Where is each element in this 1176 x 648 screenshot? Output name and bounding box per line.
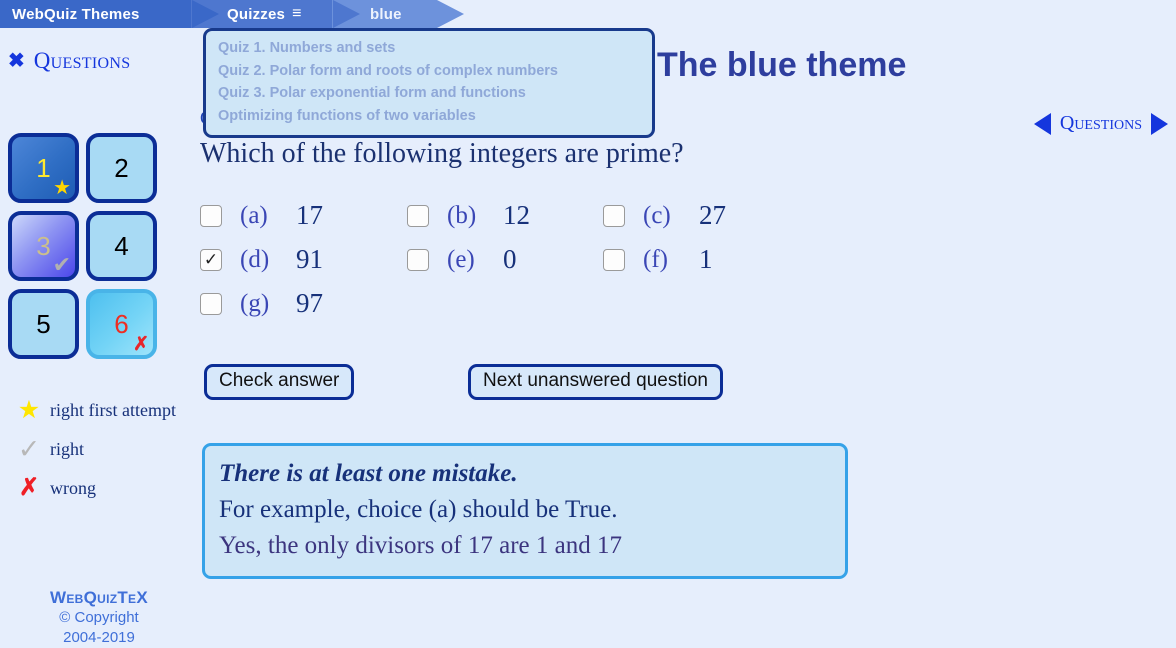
legend-item-right: ✓ right	[8, 436, 193, 463]
feedback-line-1: There is at least one mistake.	[219, 456, 831, 492]
footer-years: 2004-2019	[0, 628, 198, 648]
question-button-5[interactable]: 5	[8, 289, 79, 359]
check-icon: ✓	[8, 436, 50, 463]
choice-b[interactable]: (b) 12	[407, 200, 603, 231]
next-unanswered-question-button[interactable]: Next unanswered question	[468, 364, 723, 400]
choice-f[interactable]: (f) 1	[603, 244, 1160, 275]
question-button-1[interactable]: 1 ★	[8, 133, 79, 203]
footer-brand: WebQuizTeX	[0, 588, 198, 608]
choice-a-letter: (a)	[240, 202, 290, 230]
action-button-row: Check answer Next unanswered question	[200, 364, 1160, 398]
answer-choices: (a) 17 (b) 12 (c) 27 ✓ (d) 91 (e) 0 (f) …	[200, 200, 1160, 319]
choice-e-letter: (e)	[447, 246, 497, 274]
legend-label-right-first-attempt: right first attempt	[50, 400, 176, 421]
choice-e-value: 0	[503, 244, 517, 275]
quizzes-dropdown-menu[interactable]: Quiz 1. Numbers and sets Quiz 2. Polar f…	[203, 28, 655, 138]
star-icon: ★	[8, 398, 50, 423]
feedback-line-2: For example, choice (a) should be True.	[219, 492, 831, 528]
choice-g-checkbox[interactable]	[200, 293, 222, 315]
breadcrumb-label-themes: WebQuiz Themes	[12, 6, 140, 23]
right-triangle-icon[interactable]	[1151, 113, 1168, 135]
breadcrumb-item-themes[interactable]: WebQuiz Themes	[0, 0, 192, 28]
breadcrumb: WebQuiz Themes Quizzes ≡ blue	[0, 0, 1176, 28]
choice-g-letter: (g)	[240, 290, 290, 318]
left-triangle-icon[interactable]	[1034, 113, 1051, 135]
legend-label-right: right	[50, 439, 84, 460]
choice-g-value: 97	[296, 288, 323, 319]
choice-c-letter: (c)	[643, 202, 693, 230]
question-button-6[interactable]: 6 ✗	[86, 289, 157, 359]
status-legend: ★ right first attempt ✓ right ✗ wrong	[8, 398, 193, 513]
choice-d-checkbox[interactable]: ✓	[200, 249, 222, 271]
check-icon: ✔	[53, 254, 71, 276]
legend-item-wrong: ✗ wrong	[8, 476, 193, 500]
close-icon[interactable]: ✖	[8, 51, 25, 71]
page-title: The blue theme	[657, 46, 906, 85]
feedback-line-3: Yes, the only divisors of 17 are 1 and 1…	[219, 528, 831, 564]
cross-icon: ✗	[133, 335, 149, 354]
choice-e[interactable]: (e) 0	[407, 244, 603, 275]
questions-panel-title: Questions	[34, 48, 131, 74]
legend-item-right-first-attempt: ★ right first attempt	[8, 398, 193, 423]
check-answer-button[interactable]: Check answer	[204, 364, 354, 400]
choice-c-checkbox[interactable]	[603, 205, 625, 227]
dropdown-item-quiz-1[interactable]: Quiz 1. Numbers and sets	[218, 37, 652, 60]
choice-a-checkbox[interactable]	[200, 205, 222, 227]
question-navigation: Questions	[1034, 112, 1168, 135]
footer-copyright-text: © Copyright	[0, 608, 198, 628]
choice-b-letter: (b)	[447, 202, 497, 230]
question-button-2-number: 2	[114, 153, 128, 184]
legend-label-wrong: wrong	[50, 478, 96, 499]
star-icon: ★	[53, 178, 71, 198]
question-button-6-number: 6	[114, 309, 128, 340]
choice-d-letter: (d)	[240, 246, 290, 274]
choice-b-value: 12	[503, 200, 530, 231]
question-button-1-number: 1	[36, 153, 50, 184]
choice-f-checkbox[interactable]	[603, 249, 625, 271]
choice-c[interactable]: (c) 27	[603, 200, 1160, 231]
dropdown-item-quiz-2[interactable]: Quiz 2. Polar form and roots of complex …	[218, 60, 652, 83]
dropdown-item-optimizing[interactable]: Optimizing functions of two variables	[218, 105, 652, 128]
choice-f-letter: (f)	[643, 246, 693, 274]
question-panel: Question 6 Which of the following intege…	[200, 108, 1160, 398]
dropdown-item-quiz-3[interactable]: Quiz 3. Polar exponential form and funct…	[218, 82, 652, 105]
question-nav-label: Questions	[1060, 112, 1142, 135]
choice-c-value: 27	[699, 200, 726, 231]
footer-copyright: WebQuizTeX © Copyright 2004-2019	[0, 588, 198, 648]
sidebar: ✖ Questions 1 ★ 2 3 ✔ 4 5 6 ✗ ★ right fi…	[0, 28, 198, 619]
question-button-3[interactable]: 3 ✔	[8, 211, 79, 281]
breadcrumb-label-quizzes: Quizzes	[227, 6, 285, 23]
choice-d[interactable]: ✓ (d) 91	[200, 244, 407, 275]
question-button-3-number: 3	[36, 231, 50, 262]
question-button-2[interactable]: 2	[86, 133, 157, 203]
choice-e-checkbox[interactable]	[407, 249, 429, 271]
choice-a[interactable]: (a) 17	[200, 200, 407, 231]
choice-d-value: 91	[296, 244, 323, 275]
choice-b-checkbox[interactable]	[407, 205, 429, 227]
choice-g[interactable]: (g) 97	[200, 288, 407, 319]
cross-icon: ✗	[8, 476, 50, 500]
choice-a-value: 17	[296, 200, 323, 231]
question-text: Which of the following integers are prim…	[200, 138, 1160, 170]
choice-f-value: 1	[699, 244, 713, 275]
hamburger-menu-icon[interactable]: ≡	[292, 6, 302, 22]
feedback-box: There is at least one mistake. For examp…	[202, 443, 848, 579]
question-button-4[interactable]: 4	[86, 211, 157, 281]
question-button-5-number: 5	[36, 309, 50, 340]
questions-panel-header: ✖ Questions	[8, 48, 130, 74]
breadcrumb-label-blue: blue	[370, 6, 402, 23]
question-button-grid: 1 ★ 2 3 ✔ 4 5 6 ✗	[8, 133, 164, 359]
question-button-4-number: 4	[114, 231, 128, 262]
